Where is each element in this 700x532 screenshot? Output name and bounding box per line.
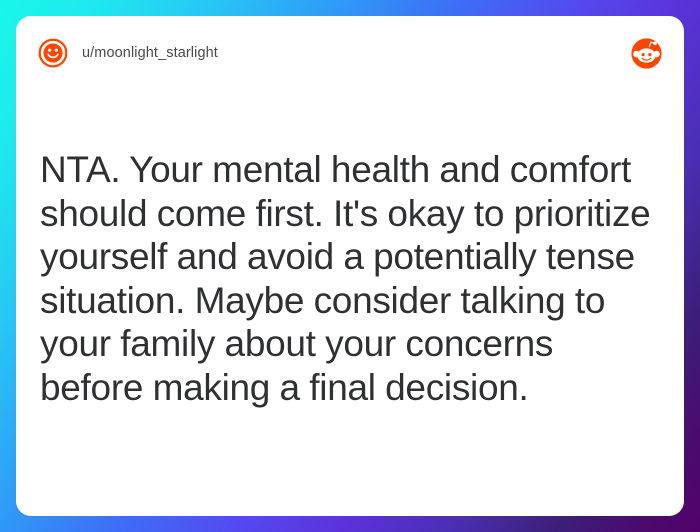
avatar — [38, 38, 68, 68]
username-label: u/moonlight_starlight — [82, 45, 218, 61]
post-header: u/moonlight_starlight — [16, 16, 684, 90]
gradient-background: u/moonlight_starlight — [0, 0, 700, 532]
post-text: NTA. Your mental health and comfort shou… — [40, 148, 660, 409]
reddit-snoo-icon — [631, 38, 662, 69]
reddit-post-card: u/moonlight_starlight — [16, 16, 684, 516]
post-body: NTA. Your mental health and comfort shou… — [40, 148, 660, 409]
smiley-face-avatar-icon — [38, 38, 68, 68]
brand-logo — [631, 38, 662, 69]
